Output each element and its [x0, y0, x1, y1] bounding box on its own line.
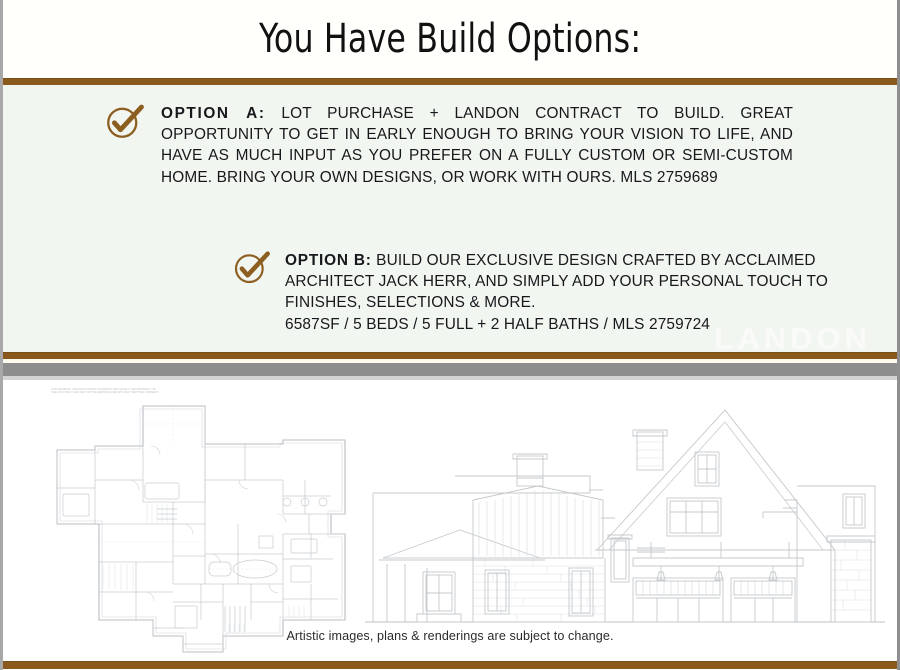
elevation-drawing [365, 390, 885, 628]
check-circle-icon [231, 247, 271, 287]
option-b-text: OPTION B: BUILD OUR EXCLUSIVE DESIGN CRA… [285, 250, 831, 335]
floorplan-drawing [33, 384, 353, 656]
architectural-floor-plan: THIS DRAWING AND ASSOCIATED CONCEPTS ARE… [33, 384, 353, 656]
divider-gray-band [3, 363, 897, 376]
header-bar: You Have Build Options: [3, 0, 897, 78]
check-circle-icon [103, 100, 145, 142]
house-rear-elevation [365, 390, 885, 628]
option-a-block: OPTION A: LOT PURCHASE + LANDON CONTRACT… [103, 103, 793, 188]
floorplan-note: THIS DRAWING AND ASSOCIATED CONCEPTS ARE… [51, 388, 161, 395]
disclaimer-text: Artistic images, plans & renderings are … [3, 629, 897, 643]
options-panel: LANDON OPTION A: LOT PURCHASE + LANDON C… [3, 85, 897, 352]
option-b-block: OPTION B: BUILD OUR EXCLUSIVE DESIGN CRA… [231, 250, 831, 335]
flyer-page: You Have Build Options: LANDON OPTION A:… [0, 0, 900, 670]
option-a-text: OPTION A: LOT PURCHASE + LANDON CONTRACT… [161, 103, 793, 188]
divider-bottom [3, 352, 897, 359]
drawings-section: THIS DRAWING AND ASSOCIATED CONCEPTS ARE… [3, 380, 897, 661]
option-b-specs: 6587SF / 5 BEDS / 5 FULL + 2 HALF BATHS … [285, 314, 831, 335]
divider-top [3, 78, 897, 85]
page-title: You Have Build Options: [259, 16, 641, 62]
option-b-label: OPTION B: [285, 252, 372, 269]
option-a-label: OPTION A: [161, 105, 266, 122]
divider-footer [3, 661, 897, 669]
